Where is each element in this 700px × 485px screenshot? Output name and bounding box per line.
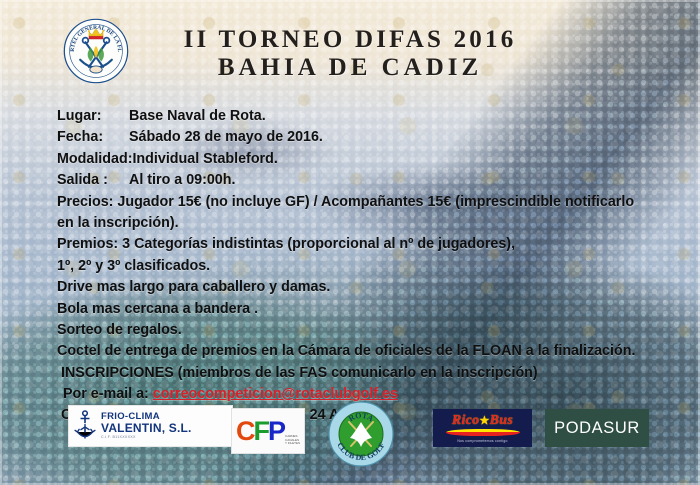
sponsor-valentin-line3: C.I.F. B11XXXXXX [101, 436, 192, 440]
title-line-2: BAHIA DE CADIZ [0, 55, 700, 80]
detail-label-modalidad: Modalidad: [57, 149, 132, 170]
sponsor-podasur-label: PODASUR [554, 419, 640, 438]
detail-value-fecha: Sábado 28 de mayo de 2016. [129, 129, 323, 145]
sponsor-logo-row: FRIO-CLIMA VALENTIN, S.L. C.I.F. B11XXXX… [0, 398, 700, 470]
sponsor-cfp-subtext: CARNESCANALESY FILETES [285, 435, 300, 446]
detail-value-lugar: Base Naval de Rota. [129, 108, 266, 124]
info-line-premios: Premios: 3 Categorías indistintas (propo… [57, 234, 687, 255]
info-line-sorteo: Sorteo de regalos. [57, 320, 687, 341]
info-line-bola: Bola mas cercana a bandera . [57, 299, 687, 320]
detail-label-salida: Salida : [57, 170, 129, 191]
rota-golf-emblem-icon: ROTA CLUB DE GOLF [327, 400, 395, 468]
detail-row-salida: Salida :Al tiro a 09:00h. [57, 170, 687, 191]
detail-value-modalidad: Individual Stableford. [132, 151, 277, 167]
info-line-precios: Precios: Jugador 15€ (no incluye GF) / A… [57, 192, 687, 213]
sponsor-cfp-letter-f: F [254, 418, 269, 445]
sponsor-cfp-letter-p: P [268, 418, 284, 445]
detail-label-fecha: Fecha: [57, 127, 129, 148]
sponsor-valentin-line2: VALENTIN, S.L. [101, 422, 192, 435]
detail-row-modalidad: Modalidad:Individual Stableford. [57, 149, 687, 170]
tournament-poster: CUARTEL GENERAL DE LA FLOTA [0, 0, 700, 485]
sponsor-ricobus-tagline: Nos comprometemos contigo [457, 439, 507, 443]
info-line-drive: Drive mas largo para caballero y damas. [57, 277, 687, 298]
info-line-coctel: Coctel de entrega de premios en la Cámar… [57, 341, 687, 362]
detail-value-salida: Al tiro a 09:00h. [129, 172, 235, 188]
detail-row-lugar: Lugar:Base Naval de Rota. [57, 106, 687, 127]
sponsor-cfp: C F P CARNESCANALESY FILETES [231, 408, 305, 454]
info-line-inscripciones: INSCRIPCIONES (miembros de las FAS comun… [57, 363, 687, 384]
sponsor-ricobus-word2: Bus [490, 413, 513, 428]
sponsor-rota-club-de-golf: ROTA CLUB DE GOLF [327, 400, 395, 468]
detail-row-fecha: Fecha:Sábado 28 de mayo de 2016. [57, 127, 687, 148]
title-line-1: II TORNEO DIFAS 2016 [184, 26, 517, 53]
sponsor-ricobus-word1: Rico [452, 413, 480, 428]
poster-title: II TORNEO DIFAS 2016 BAHIA DE CADIZ [0, 27, 700, 80]
anchor-snowflake-icon [73, 410, 97, 442]
info-line-clasificados: 1º, 2º y 3º clasificados. [57, 256, 687, 277]
info-line-precios-cont: en la inscripción). [57, 213, 687, 234]
detail-label-lugar: Lugar: [57, 106, 129, 127]
sponsor-podasur: PODASUR [545, 409, 649, 447]
sponsor-frio-clima-valentin: FRIO-CLIMA VALENTIN, S.L. C.I.F. B11XXXX… [68, 405, 233, 447]
sponsor-rico-bus: Rico★Bus Nos comprometemos contigo [433, 409, 532, 447]
star-icon: ★ [480, 415, 490, 427]
sponsor-cfp-letter-c: C [236, 418, 254, 445]
ricobus-swoosh-graphic [446, 429, 520, 436]
poster-body: Lugar:Base Naval de Rota. Fecha:Sábado 2… [57, 106, 687, 427]
